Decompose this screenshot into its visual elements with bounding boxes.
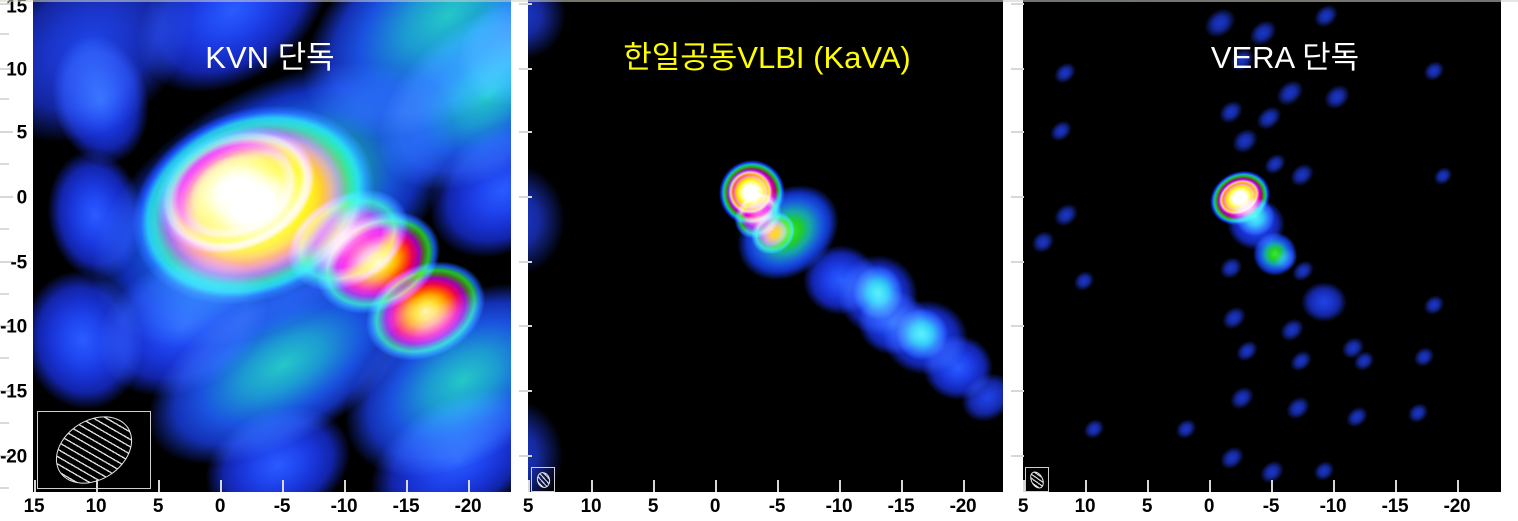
core-extension (1235, 198, 1275, 236)
x-tick-label: 10 (581, 497, 602, 516)
sidelobe (1226, 382, 1259, 414)
sidelobe (33, 0, 231, 183)
jet-halo (42, 3, 503, 406)
jet-bridge (718, 165, 857, 300)
sidelobe (528, 0, 566, 60)
sidelobe (1050, 199, 1083, 231)
sidelobe (1260, 149, 1290, 178)
source-core-peak (727, 169, 773, 215)
source-core (719, 160, 785, 226)
jet-knot-1 (1253, 232, 1297, 276)
sidelobe (1172, 415, 1200, 443)
sidelobe (1271, 75, 1308, 111)
sidelobe (259, 0, 511, 189)
x-tick-label: -10 (1320, 497, 1347, 516)
sidelobe (1199, 2, 1242, 44)
y-tick-label: 0 (0, 189, 27, 208)
panel-vera: VERA 단독 5 10 5 0 -5 -10 (1011, 0, 1518, 521)
y-tick-label: -15 (0, 383, 27, 402)
x-tick-label: -15 (1382, 497, 1409, 516)
sidelobe (116, 225, 451, 492)
plot-area-vera[interactable] (1023, 0, 1501, 492)
sidelobe (434, 0, 511, 131)
x-tick-label: 10 (86, 497, 107, 516)
jet-knot-5 (853, 265, 903, 320)
source-core (102, 70, 405, 340)
x-tick-label: -20 (950, 497, 977, 516)
x-tick-label: -5 (274, 497, 291, 516)
jet-bridge (269, 169, 427, 312)
beam-box-vera (1025, 467, 1049, 492)
x-tick-label: -20 (455, 497, 482, 516)
y-tick-label: -20 (0, 448, 27, 467)
sidelobe (310, 243, 511, 492)
sidelobe (1244, 15, 1281, 51)
jet-knot-4 (838, 255, 918, 335)
x-tick-label: -20 (1444, 497, 1471, 516)
sidelobe (1301, 282, 1347, 322)
jet-knot-9 (923, 335, 993, 400)
plot-area-kava[interactable] (528, 0, 1006, 492)
jet-knot-7 (883, 300, 968, 375)
x-tick-label: 5 (1018, 497, 1028, 516)
sidelobe (1286, 159, 1319, 191)
sidelobe (346, 361, 511, 492)
image-canvas-kava (528, 0, 1006, 492)
jet-knot-8 (896, 308, 948, 360)
x-tick-label: -15 (393, 497, 420, 516)
sidelobe (1215, 96, 1248, 128)
sidelobe (1050, 58, 1080, 87)
x-tick-label: 5 (153, 497, 163, 516)
sidelobe (1252, 101, 1286, 134)
jet-knot-3 (803, 245, 878, 315)
sidelobe (1218, 302, 1251, 334)
jet-knot-1 (725, 184, 790, 248)
sidelobe (73, 225, 293, 424)
jet-knot-1 (299, 191, 457, 333)
sidelobe (1216, 442, 1249, 474)
sidelobe (1226, 44, 1259, 76)
sidelobe (1227, 124, 1263, 159)
y-tick-label: 5 (0, 124, 27, 143)
panel-divider (1003, 0, 1011, 493)
x-tick-label: 0 (215, 497, 225, 516)
sidelobe (1337, 333, 1368, 364)
sidelobe (188, 386, 368, 492)
sidelobe (343, 0, 511, 229)
sidelobe (1027, 227, 1058, 258)
y-tick-label: 15 (0, 0, 27, 17)
sidelobe (41, 27, 161, 174)
sidelobe (1232, 336, 1262, 365)
sidelobe (1310, 0, 1343, 32)
x-tick-label: 5 (523, 497, 533, 516)
x-tick-label: -5 (769, 497, 786, 516)
jet-knot-10 (952, 363, 1006, 431)
sidelobe (107, 0, 359, 127)
source-core-peak (137, 103, 335, 276)
sidelobe (403, 94, 511, 285)
sidelobe (1215, 253, 1246, 284)
x-tick-label: 5 (1142, 497, 1152, 516)
sidelobe (1430, 163, 1456, 188)
x-tick-label: 15 (24, 497, 45, 516)
core-extension-halo (1227, 198, 1285, 250)
sidelobe (528, 165, 565, 275)
beam-ellipse-kvn (43, 403, 144, 498)
sidelobe (1070, 267, 1098, 295)
source-core (1200, 160, 1279, 235)
source-core-peak (1212, 172, 1267, 223)
panel-divider (511, 0, 519, 493)
sidelobe (1286, 346, 1316, 375)
beam-ellipse-kava (535, 471, 552, 490)
x-tick-label: 10 (1075, 497, 1096, 516)
sidelobe (1350, 347, 1378, 375)
sidelobe (1080, 415, 1108, 443)
panel-kava: 한일공동VLBI (KaVA) 5 10 5 0 -5 (519, 0, 1011, 521)
y-tick-label: -5 (0, 254, 27, 273)
x-tick-label: 0 (1204, 497, 1214, 516)
panel-kvn: KVN 단독 15 10 5 0 -5 -10 - (0, 0, 518, 521)
sidelobe (39, 144, 151, 286)
sidelobe (1420, 57, 1448, 85)
x-tick-label: -10 (331, 497, 358, 516)
sidelobe (1420, 291, 1448, 319)
x-tick-label: 0 (710, 497, 720, 516)
sidelobe (1270, 244, 1303, 276)
sidelobe (1288, 256, 1318, 285)
jet-knot-2 (743, 203, 804, 263)
figure-root: KVN 단독 15 10 5 0 -5 -10 - (0, 0, 1518, 521)
image-canvas-vera (1023, 0, 1501, 492)
y-tick-label: 10 (0, 61, 27, 80)
y-tick-label: -10 (0, 318, 27, 337)
sidelobe (33, 259, 156, 421)
x-tick-label: 5 (648, 497, 658, 516)
sidelobe (1410, 343, 1438, 371)
sidelobe (1342, 402, 1372, 431)
sidelobe (1046, 116, 1076, 145)
x-tick-label: -5 (1263, 497, 1280, 516)
colorbar-edge-strip (0, 0, 1518, 2)
beam-box-kava (531, 467, 555, 492)
beam-box-kvn (37, 411, 151, 489)
x-tick-label: -15 (888, 497, 915, 516)
sidelobe (1404, 399, 1432, 427)
beam-ellipse-vera (1027, 469, 1046, 491)
jet-knot-2 (349, 242, 502, 379)
jet-knot-6 (858, 290, 928, 355)
sidelobe (1319, 80, 1355, 115)
sidelobe (1282, 392, 1315, 424)
sidelobe (1276, 314, 1309, 346)
x-tick-label: -10 (826, 497, 853, 516)
